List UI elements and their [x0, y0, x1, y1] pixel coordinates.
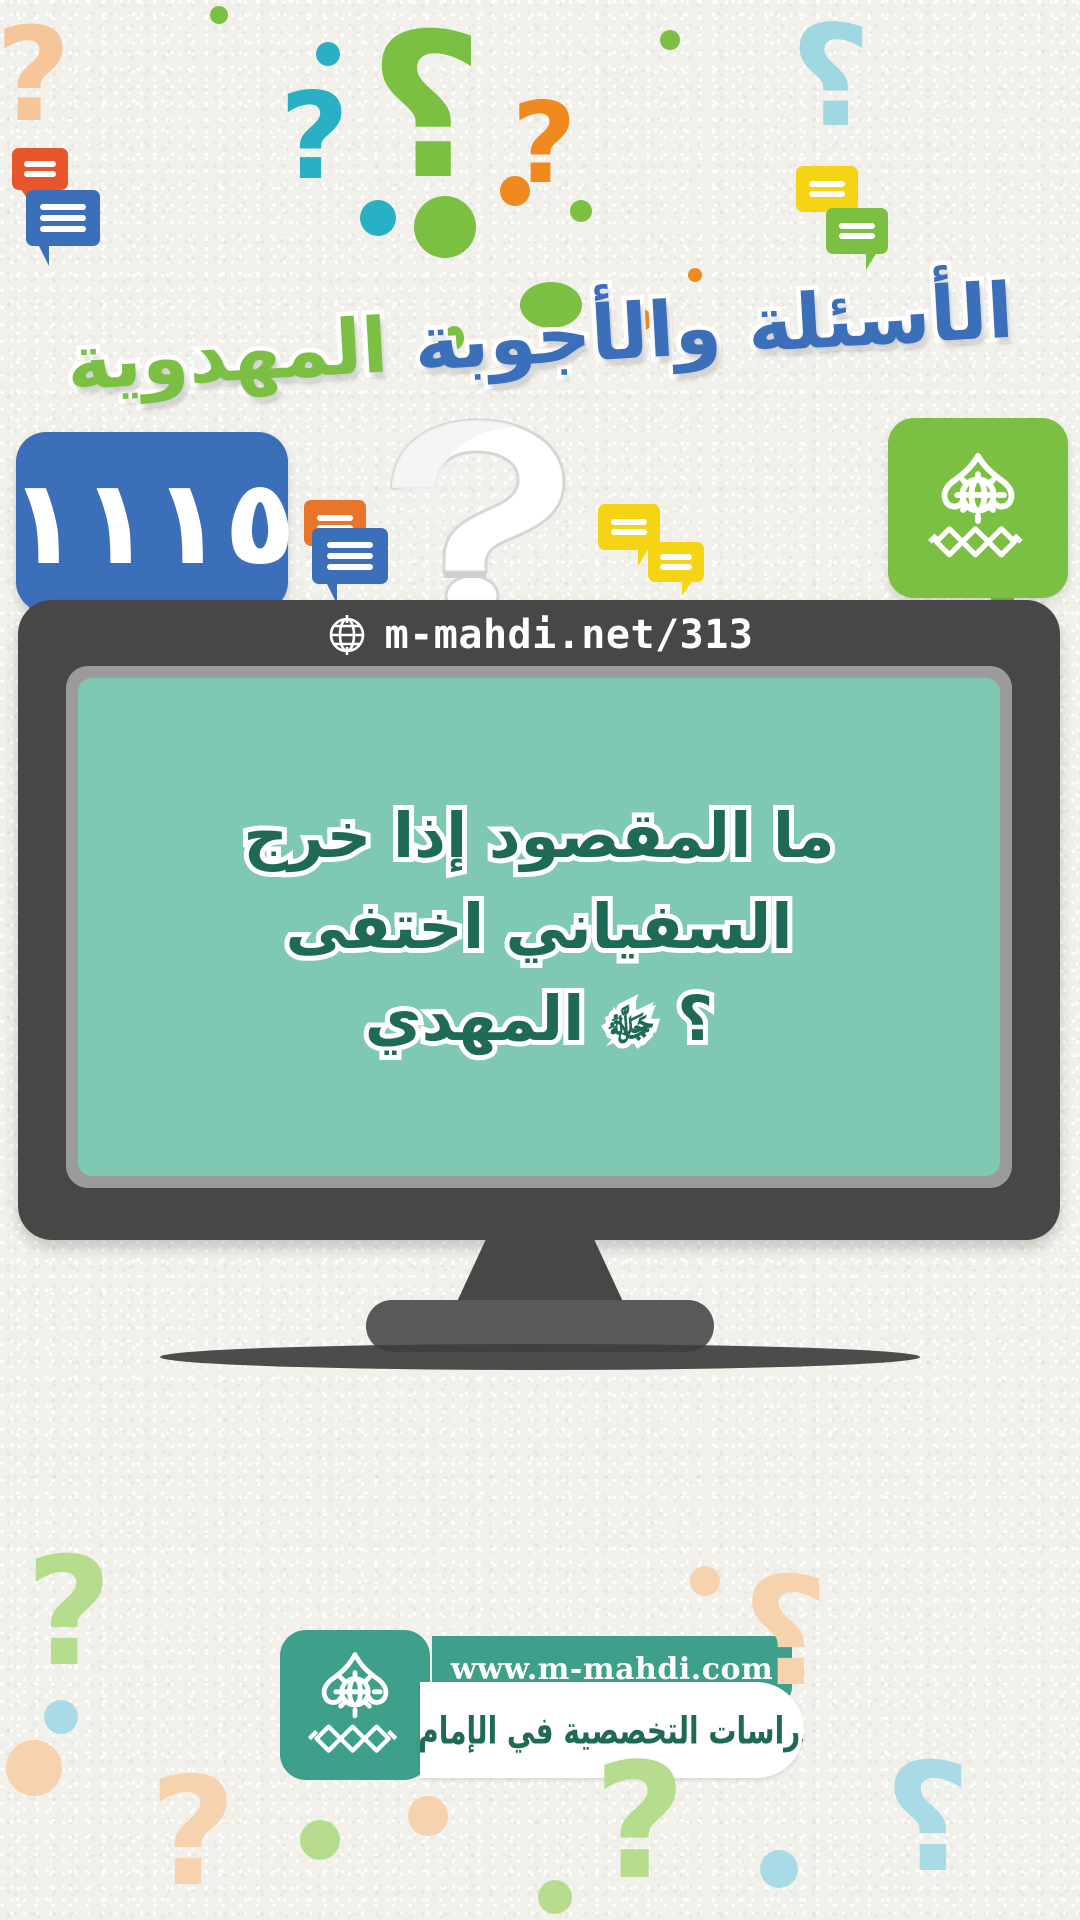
big-white-question-mark-icon: [352, 400, 612, 620]
dot-bottom-teal2: [760, 1850, 798, 1888]
dot-green-6: [210, 6, 228, 24]
title-part-2: المهدوية: [64, 300, 390, 407]
honorific-glyph: ﷻ: [606, 1000, 656, 1051]
chat-bubble-yellow-3-icon: [648, 542, 704, 582]
dot-green-3: [660, 30, 680, 50]
brand-logo-badge[interactable]: [888, 418, 1068, 598]
chat-bubble-blue-icon: [26, 190, 100, 246]
dot-bottom-peach2: [408, 1796, 448, 1836]
qmark-bottom-green-2-icon: ؟: [594, 1742, 687, 1902]
question-number: ١١١٥: [8, 463, 296, 581]
monitor-ground-shadow: [160, 1344, 920, 1370]
dot-teal-2: [360, 200, 396, 236]
qmark-bottom-blue-icon: ؟: [884, 1744, 971, 1894]
monitor-url-text: m-mahdi.net/313: [385, 612, 754, 658]
question-number-badge: ١١١٥: [16, 432, 288, 612]
globe-icon: [325, 613, 369, 657]
qmark-teal-icon: ؟: [280, 78, 350, 198]
poster-title-container: الأسئلة والأجوبة المهدوية: [0, 276, 1080, 396]
monitor-screen: ما المقصود إذا خرج السفياني اختفى ؟ ﷻ ال…: [78, 678, 1000, 1176]
dot-bottom-peach3: [690, 1566, 720, 1596]
poster-canvas: ؟ ؟ ؟ ؟ ؟: [0, 0, 1080, 1920]
question-line-1: ما المقصود إذا خرج: [243, 801, 834, 870]
mosque-globe-logo-icon: [913, 443, 1043, 573]
page-title: الأسئلة والأجوبة المهدوية: [64, 265, 1015, 407]
question-line-3-container: ؟ ﷻ المهدي: [365, 984, 714, 1053]
dot-green-2: [570, 200, 592, 222]
title-part-1: الأسئلة والأجوبة: [412, 265, 1016, 387]
qmark-green-large-icon: ؟: [368, 8, 484, 208]
qmark-bottom-peach-icon: ؟: [742, 1558, 829, 1708]
dot-green: [414, 196, 476, 258]
dot-bottom-green2: [538, 1880, 572, 1914]
question-mark-glyph: ؟: [677, 982, 713, 1055]
chat-bubble-yellow-icon: [796, 166, 858, 212]
qmark-bottom-peach-2-icon: ؟: [150, 1758, 237, 1908]
monitor-frame: m-mahdi.net/313 ما المقصود إذا خرج السفي…: [18, 600, 1060, 1240]
chat-bubble-red-icon: [12, 148, 68, 190]
dot-bottom-teal: [44, 1700, 78, 1734]
monitor-bezel: ما المقصود إذا خرج السفياني اختفى ؟ ﷻ ال…: [66, 666, 1012, 1188]
dot-teal: [316, 42, 340, 66]
dot-orange: [500, 176, 530, 206]
qmark-peach-icon: ؟: [0, 10, 71, 140]
chat-bubble-green-icon: [826, 208, 888, 254]
monitor-url-bar[interactable]: m-mahdi.net/313: [18, 600, 1060, 662]
footer-logo-badge[interactable]: [280, 1630, 430, 1780]
dot-bottom-green: [300, 1820, 340, 1860]
qmark-lightblue-icon: ؟: [790, 8, 871, 148]
qmark-bottom-green-icon: ؟: [26, 1538, 113, 1688]
question-line-2: السفياني اختفى: [285, 892, 792, 961]
question-line-3: المهدي: [365, 982, 585, 1055]
chat-bubble-blue-2-icon: [312, 528, 388, 584]
dot-bottom-peach: [6, 1740, 62, 1796]
footer-mosque-globe-logo-icon: [295, 1645, 415, 1765]
footer: www.m-mahdi.com مركز الدراسات التخصصية ف…: [280, 1630, 800, 1810]
